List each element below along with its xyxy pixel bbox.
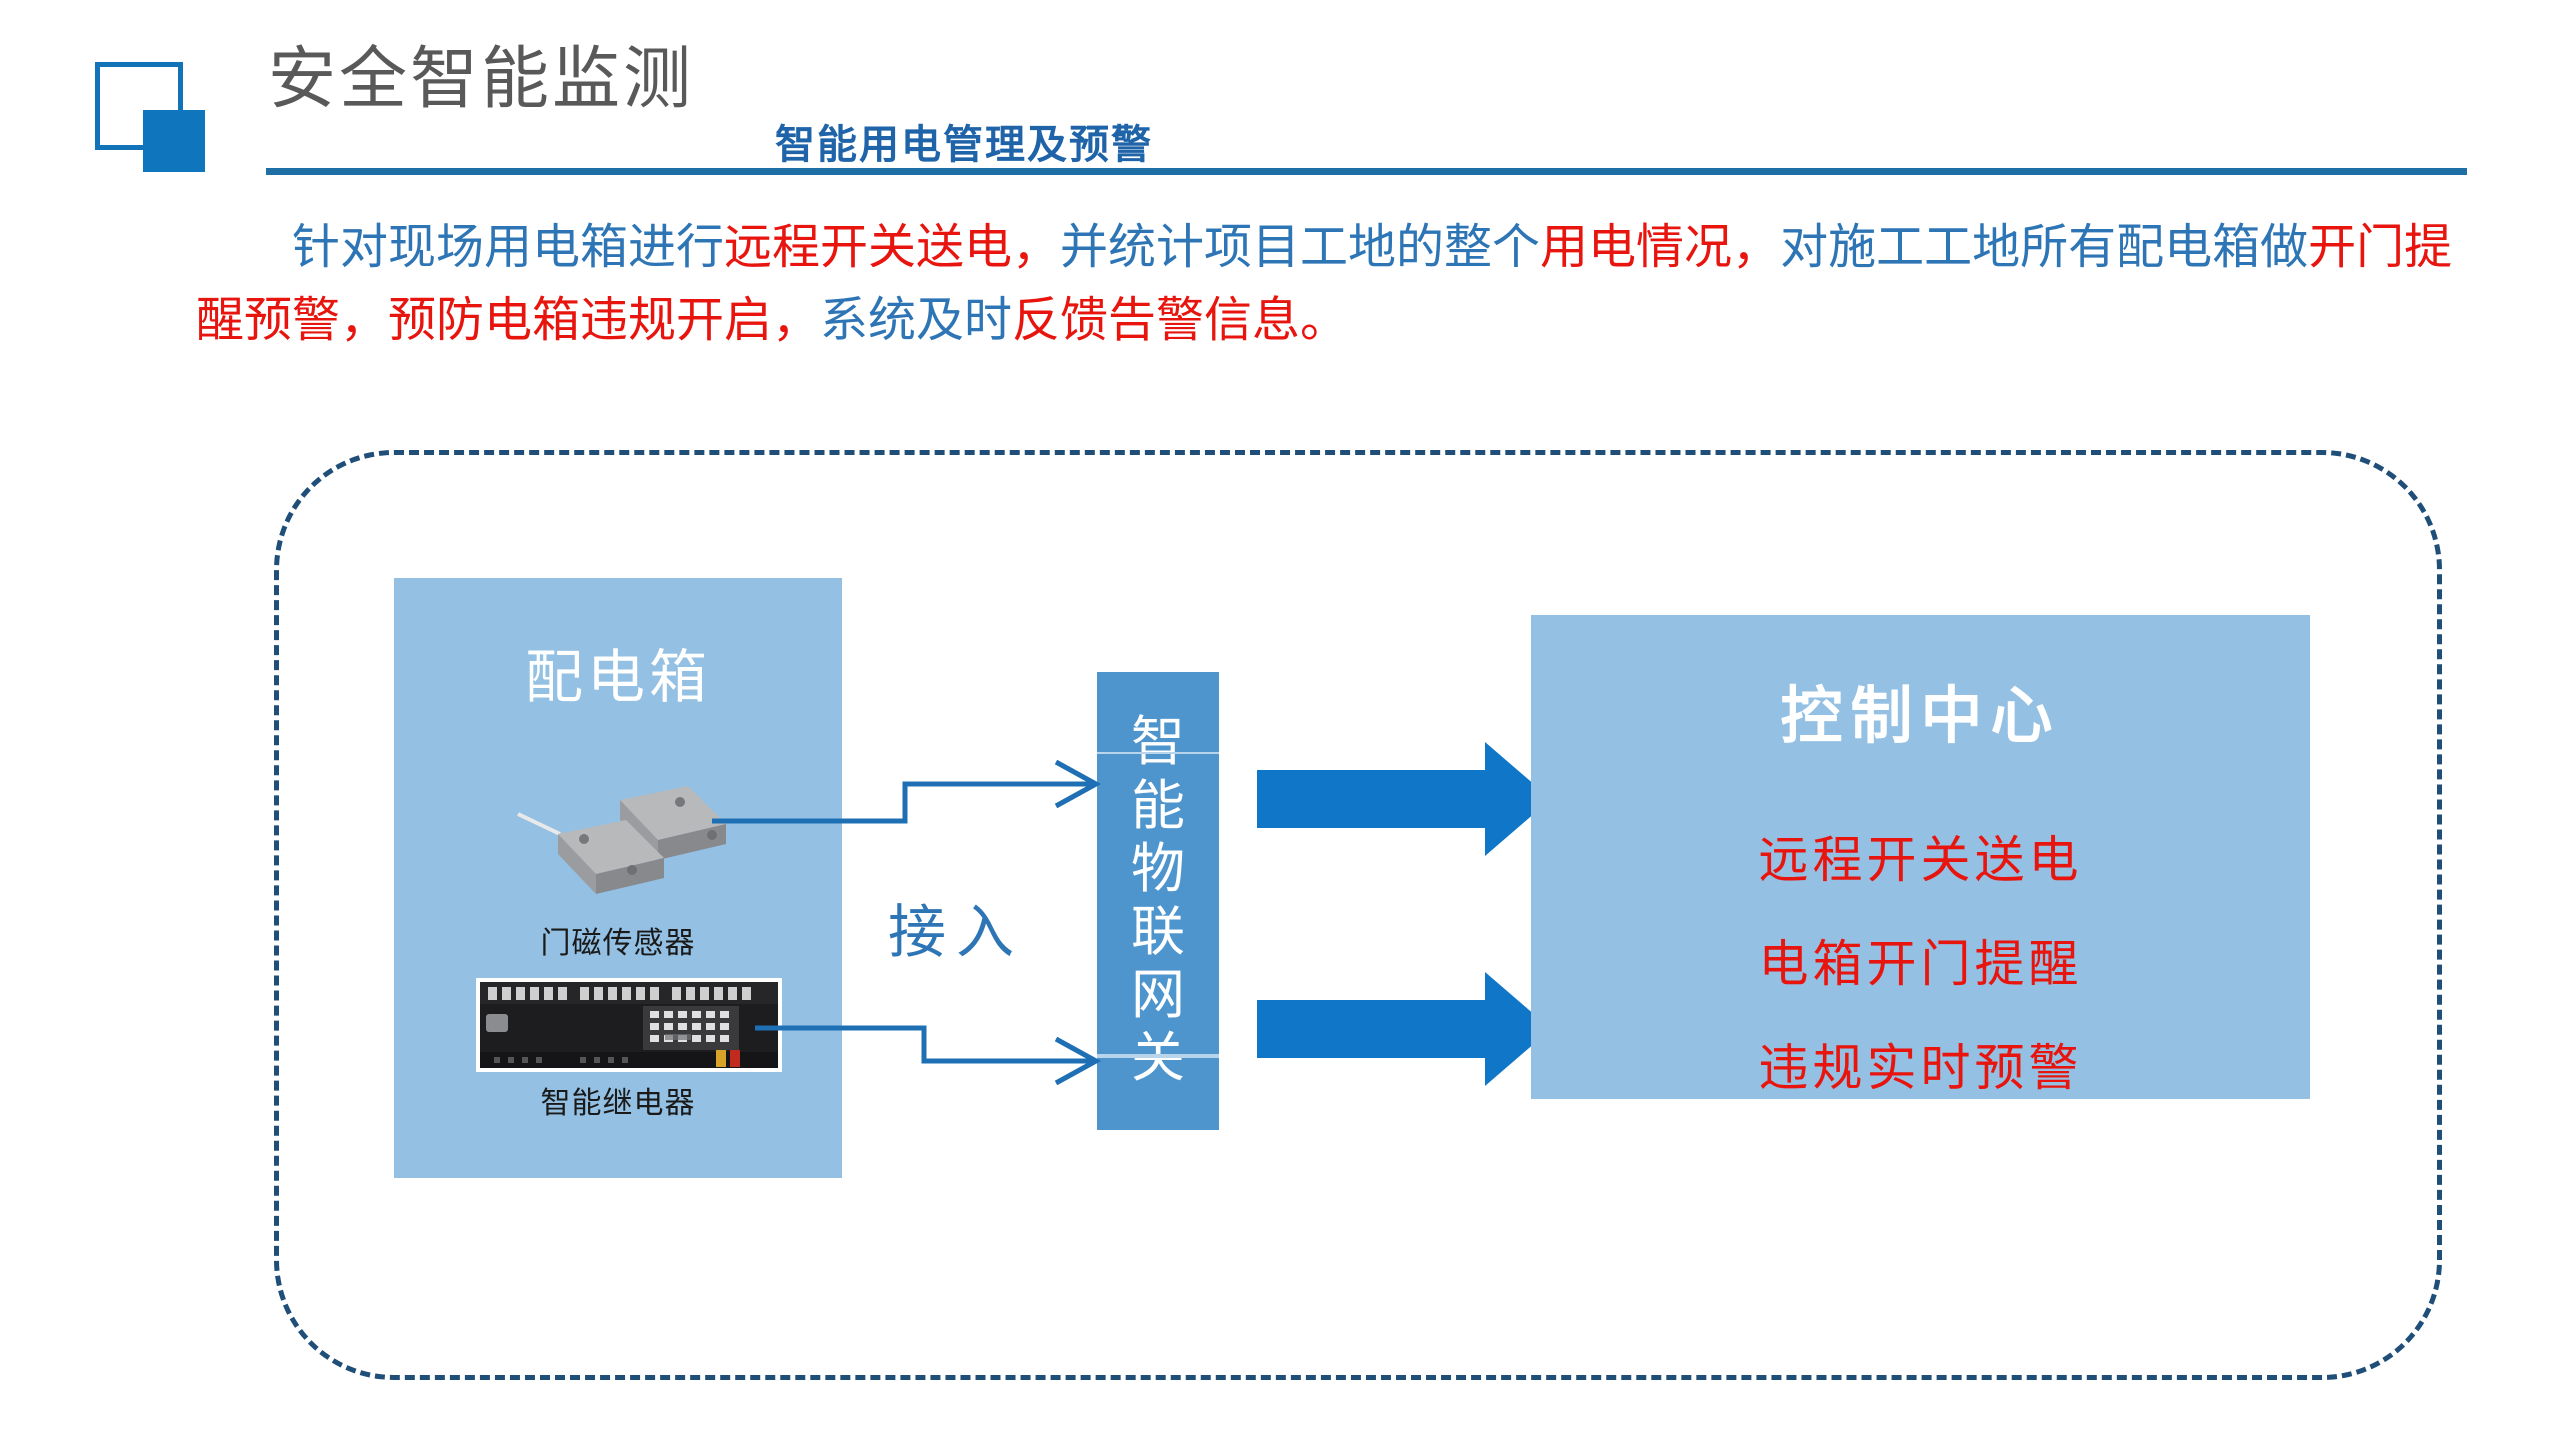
- door-magnet-sensor-label: 门磁传感器: [394, 918, 842, 962]
- control-center-feature-item: 远程开关送电: [1531, 820, 2310, 892]
- control-center-panel: 控制中心 远程开关送电 电箱开门提醒 违规实时预警: [1531, 615, 2310, 1099]
- body-paragraph: 针对现场用电箱进行远程开关送电，并统计项目工地的整个用电情况，对施工工地所有配电…: [196, 212, 2456, 358]
- control-center-feature-item: 违规实时预警: [1531, 1028, 2310, 1100]
- gateway-char: 能: [1131, 775, 1185, 838]
- gateway-divider: [1097, 752, 1219, 754]
- distribution-box-panel: 配电箱: [394, 578, 842, 1178]
- logo-solid-square: [143, 110, 205, 172]
- brand-logo-icon: [95, 62, 210, 174]
- smart-relay-label: 智能继电器: [394, 1078, 842, 1122]
- control-center-feature-item: 电箱开门提醒: [1531, 924, 2310, 996]
- paragraph-segment: 反馈告警信息。: [1012, 294, 1348, 347]
- control-center-feature-list: 远程开关送电 电箱开门提醒 违规实时预警: [1531, 820, 2310, 1132]
- iot-gateway-node: 智 能 物 联 网 关: [1097, 672, 1219, 1130]
- paragraph-segment: 针对现场用电箱进行: [292, 221, 724, 274]
- gateway-char: 物: [1131, 838, 1185, 901]
- paragraph-segment: 对施工工地所有配电箱做: [1780, 221, 2308, 274]
- gateway-char: 智: [1131, 711, 1185, 774]
- page-subtitle: 智能用电管理及预警: [775, 112, 1153, 170]
- door-magnet-sensor-icon: [512, 778, 742, 908]
- connector-label: 接入: [888, 885, 1024, 969]
- page-title: 安全智能监测: [268, 42, 694, 117]
- gateway-char: 关: [1131, 1027, 1185, 1090]
- gateway-char: 联: [1131, 901, 1185, 964]
- panel-title: 配电箱: [394, 630, 842, 714]
- paragraph-segment: 用电情况，: [1540, 221, 1780, 274]
- control-center-title: 控制中心: [1531, 665, 2310, 755]
- gateway-char: 网: [1131, 964, 1185, 1027]
- paragraph-segment: 远程开关送电，: [724, 221, 1060, 274]
- header-divider: [266, 168, 2467, 175]
- paragraph-segment: 系统及时: [820, 294, 1012, 347]
- smart-relay-icon: [476, 978, 782, 1072]
- paragraph-segment: 并统计项目工地的整个: [1060, 221, 1540, 274]
- gateway-divider: [1097, 1054, 1219, 1058]
- slide-root: 安全智能监测 智能用电管理及预警 针对现场用电箱进行远程开关送电，并统计项目工地…: [0, 0, 2560, 1440]
